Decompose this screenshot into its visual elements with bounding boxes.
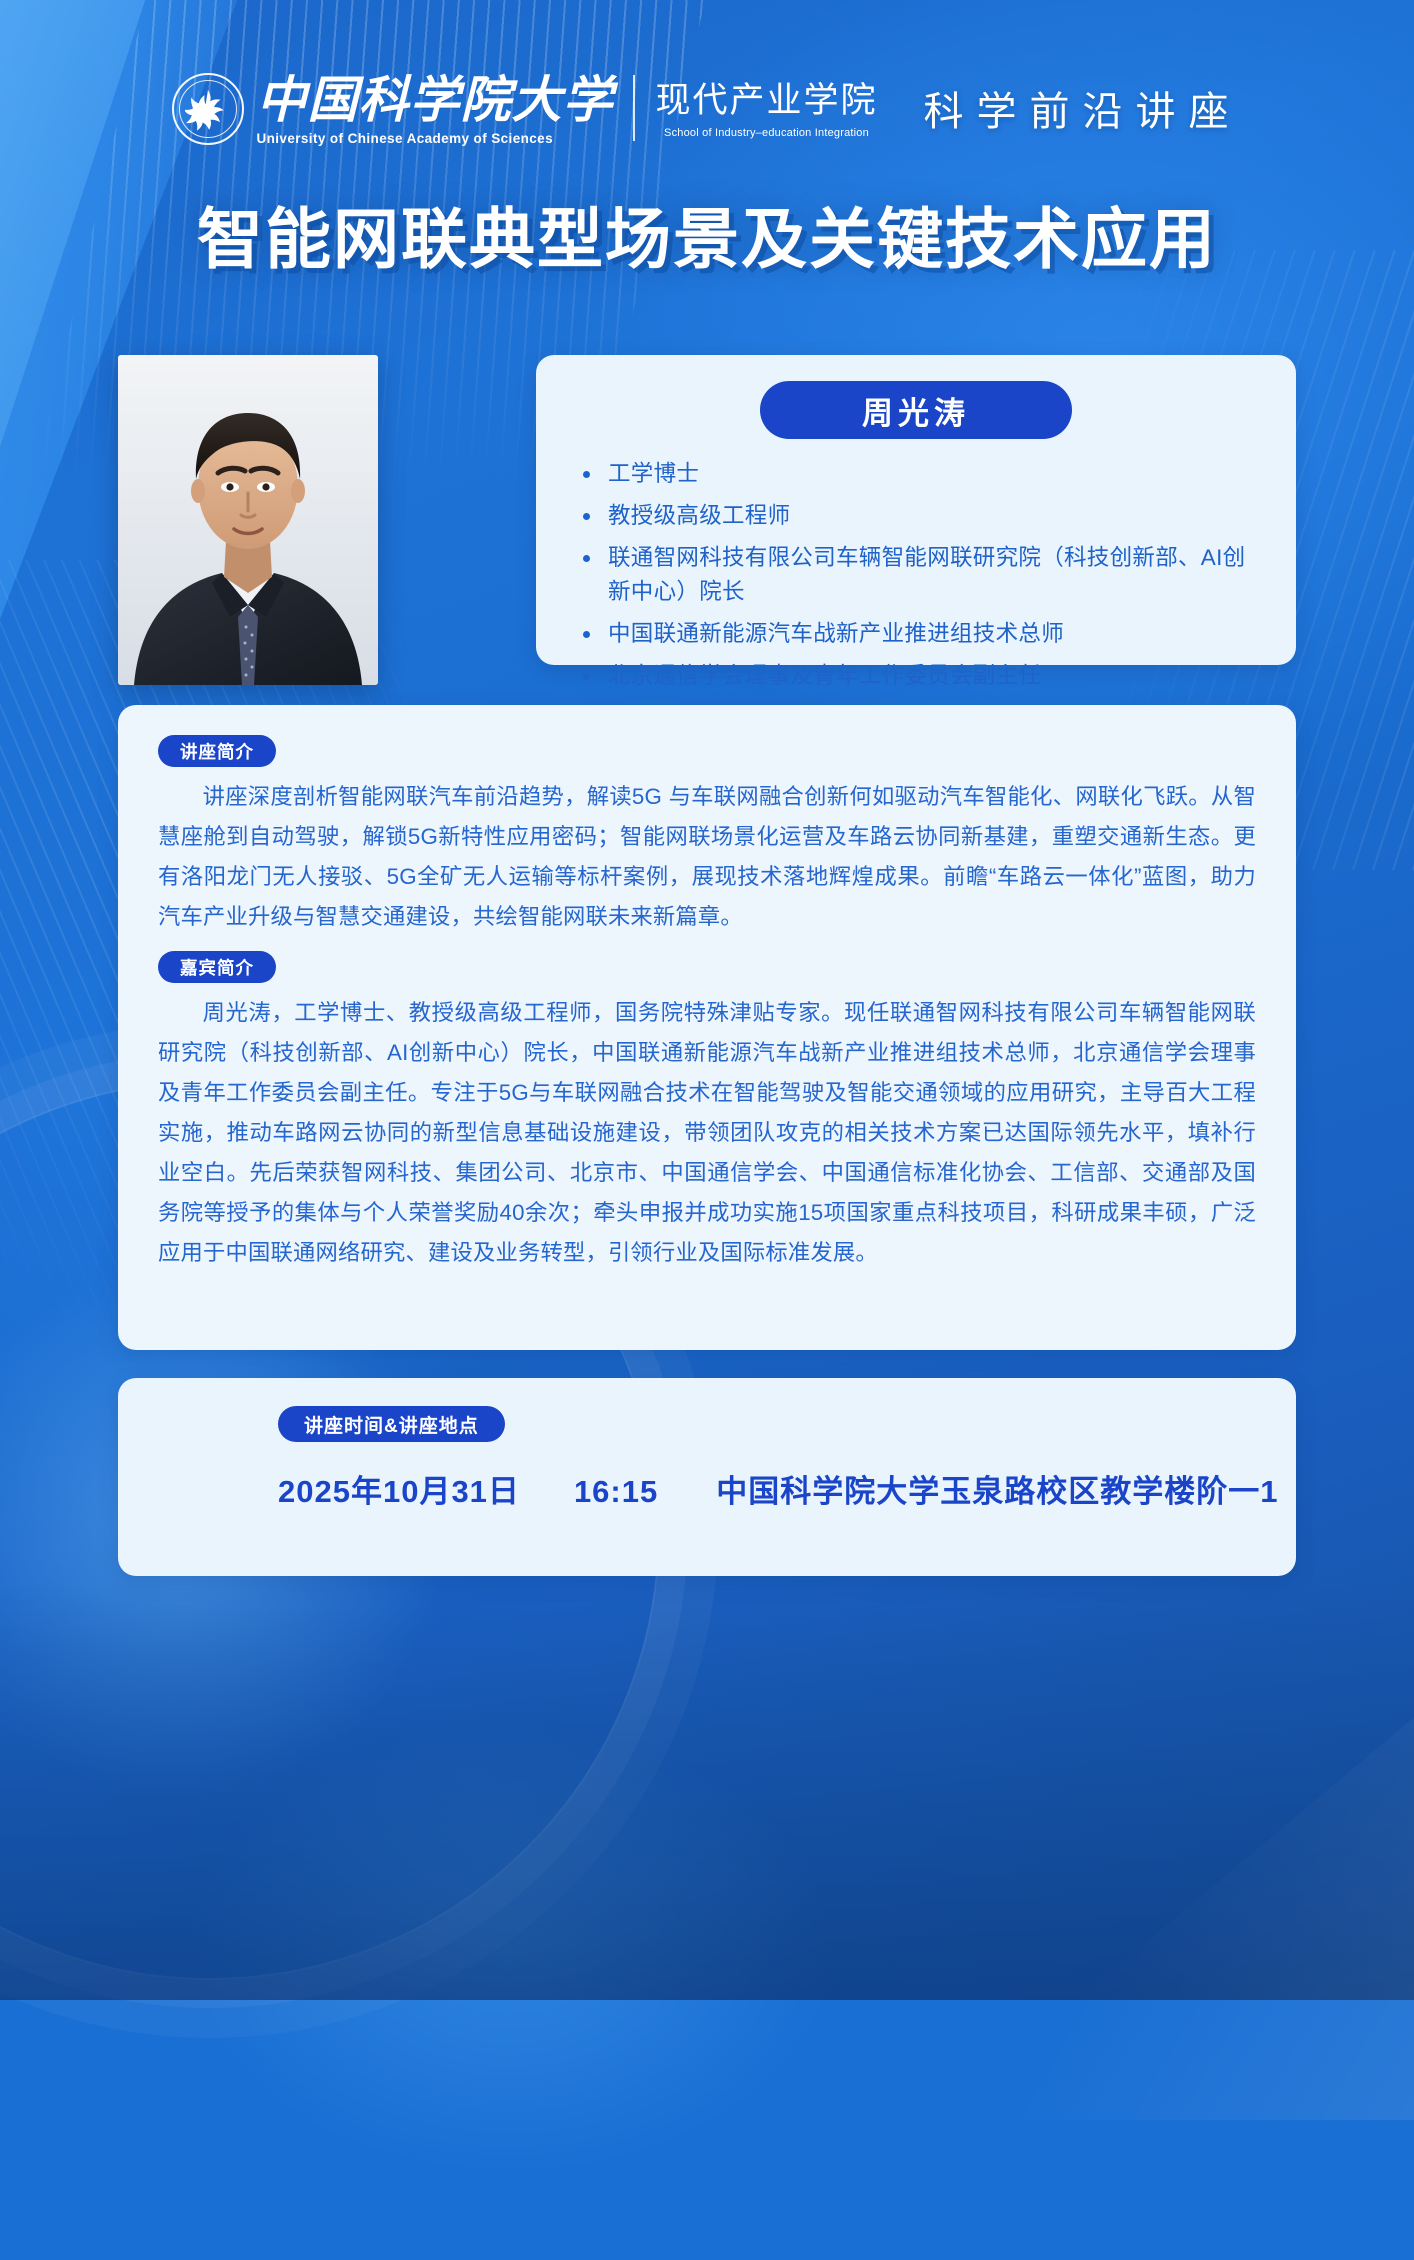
schedule-details: 2025年10月31日 16:15 中国科学院大学玉泉路校区教学楼阶一1 — [118, 1466, 1296, 1511]
series-title: 科学前沿讲座 — [924, 79, 1242, 137]
university-brand-text: 中国科学院大学 University of Chinese Academy of… — [256, 71, 613, 146]
ucas-seal-icon — [172, 73, 244, 145]
schedule-time: 16:15 — [574, 1474, 658, 1510]
schedule-date: 2025年10月31日 — [278, 1466, 520, 1511]
speaker-section: 周光涛 工学博士 教授级高级工程师 联通智网科技有限公司车辆智能网联研究院（科技… — [0, 355, 1414, 685]
schedule-badge: 讲座时间&讲座地点 — [278, 1406, 505, 1442]
guest-intro-text: 周光涛，工学博士、教授级高级工程师，国务院特殊津贴专家。现任联通智网科技有限公司… — [158, 993, 1256, 1273]
list-item: 教授级高级工程师 — [576, 499, 1266, 533]
speaker-info-card: 周光涛 工学博士 教授级高级工程师 联通智网科技有限公司车辆智能网联研究院（科技… — [536, 355, 1296, 665]
poster-header: 中国科学院大学 University of Chinese Academy of… — [0, 62, 1414, 154]
poster-root: 中国科学院大学 University of Chinese Academy of… — [0, 0, 1414, 2000]
school-name-en: School of Industry–education Integration — [655, 127, 877, 139]
schedule-place: 中国科学院大学玉泉路校区教学楼阶一1 — [716, 1466, 1278, 1511]
university-name-en: University of Chinese Academy of Science… — [256, 131, 613, 146]
header-divider — [633, 75, 635, 141]
list-item: 联通智网科技有限公司车辆智能网联研究院（科技创新部、AI创新中心）院长 — [576, 541, 1266, 609]
descriptions-card: 讲座简介 讲座深度剖析智能网联汽车前沿趋势，解读5G 与车联网融合创新何如驱动汽… — [118, 705, 1296, 1350]
school-name-cn: 现代产业学院 — [655, 77, 877, 125]
guest-intro-badge: 嘉宾简介 — [158, 951, 276, 983]
school-brand: 现代产业学院 School of Industry–education Inte… — [655, 77, 877, 139]
speaker-credentials-list: 工学博士 教授级高级工程师 联通智网科技有限公司车辆智能网联研究院（科技创新部、… — [566, 457, 1266, 693]
lecture-intro-text: 讲座深度剖析智能网联汽车前沿趋势，解读5G 与车联网融合创新何如驱动汽车智能化、… — [158, 777, 1256, 937]
speaker-name-badge: 周光涛 — [760, 381, 1072, 439]
university-brand: 中国科学院大学 University of Chinese Academy of… — [172, 71, 613, 146]
speaker-portrait — [118, 355, 378, 685]
list-item: 中国联通新能源汽车战新产业推进组技术总师 — [576, 617, 1266, 651]
list-item: 工学博士 — [576, 457, 1266, 491]
lecture-intro-badge: 讲座简介 — [158, 735, 276, 767]
university-name-cn: 中国科学院大学 — [256, 71, 613, 129]
page-title: 智能网联典型场景及关键技术应用 — [0, 186, 1414, 282]
schedule-card: 讲座时间&讲座地点 2025年10月31日 16:15 中国科学院大学玉泉路校区… — [118, 1378, 1296, 1576]
list-item: 北京通信学会理事及青年工作委员会副主任 — [576, 659, 1266, 693]
